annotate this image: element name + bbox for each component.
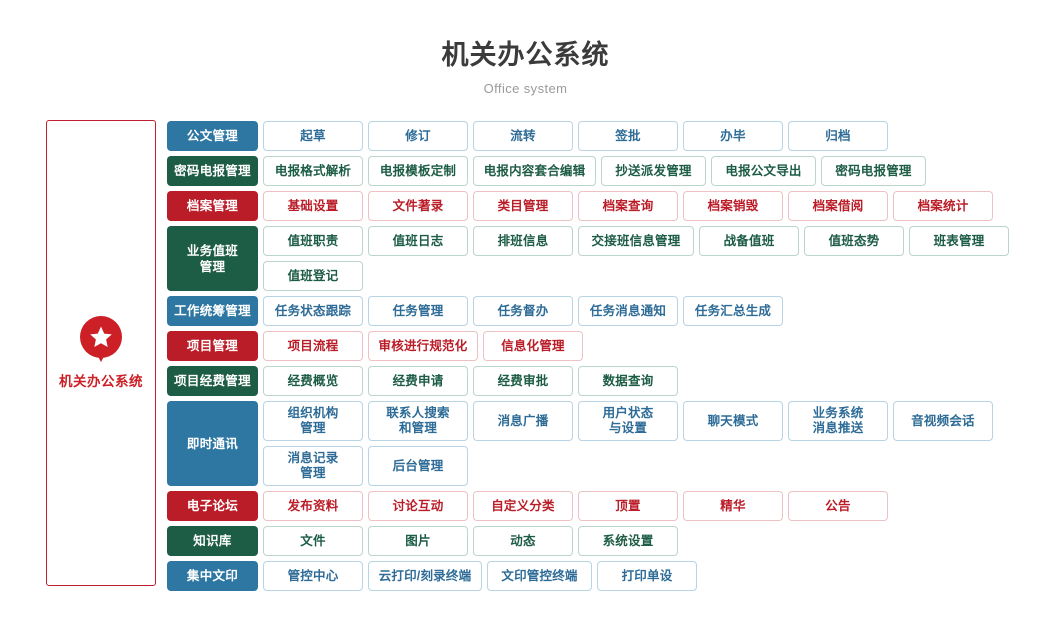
menu-item[interactable]: 发布资料 — [263, 491, 363, 521]
menu-items-line: 值班职责值班日志排班信息交接班信息管理战备值班值班态势班表管理 — [263, 226, 1009, 256]
menu-item[interactable]: 消息广播 — [473, 401, 573, 441]
category-badge[interactable]: 档案管理 — [167, 191, 258, 221]
menu-item[interactable]: 交接班信息管理 — [578, 226, 694, 256]
menu-item[interactable]: 值班态势 — [804, 226, 904, 256]
menu-item[interactable]: 电报格式解析 — [263, 156, 363, 186]
menu-items-line: 管控中心云打印/刻录终端文印管控终端打印单设 — [263, 561, 1009, 591]
menu-item[interactable]: 值班职责 — [263, 226, 363, 256]
menu-items-wrap: 发布资料讨论互动自定义分类顶置精华公告 — [263, 491, 1009, 521]
menu-item[interactable]: 系统设置 — [578, 526, 678, 556]
menu-items-wrap: 文件图片动态系统设置 — [263, 526, 1009, 556]
category-badge[interactable]: 电子论坛 — [167, 491, 258, 521]
menu-item[interactable]: 动态 — [473, 526, 573, 556]
menu-item[interactable]: 打印单设 — [597, 561, 697, 591]
menu-item[interactable]: 办毕 — [683, 121, 783, 151]
category-badge[interactable]: 项目经费管理 — [167, 366, 258, 396]
menu-item[interactable]: 班表管理 — [909, 226, 1009, 256]
menu-item[interactable]: 用户状态 与设置 — [578, 401, 678, 441]
menu-item[interactable]: 经费概览 — [263, 366, 363, 396]
menu-item[interactable]: 档案统计 — [893, 191, 993, 221]
menu-item[interactable]: 精华 — [683, 491, 783, 521]
menu-item[interactable]: 任务消息通知 — [578, 296, 678, 326]
page-subtitle: Office system — [0, 81, 1051, 97]
menu-items-wrap: 值班职责值班日志排班信息交接班信息管理战备值班值班态势班表管理值班登记 — [263, 226, 1009, 291]
page-header: 机关办公系统 Office system — [0, 0, 1051, 97]
menu-item[interactable]: 档案销毁 — [683, 191, 783, 221]
menu-item[interactable]: 公告 — [788, 491, 888, 521]
menu-items-line: 基础设置文件著录类目管理档案查询档案销毁档案借阅档案统计 — [263, 191, 1009, 221]
menu-item[interactable]: 项目流程 — [263, 331, 363, 361]
brand-panel: 机关办公系统 — [46, 120, 156, 586]
menu-item[interactable]: 档案借阅 — [788, 191, 888, 221]
menu-row: 知识库文件图片动态系统设置 — [167, 526, 1009, 556]
menu-item[interactable]: 联系人搜索 和管理 — [368, 401, 468, 441]
menu-item[interactable]: 起草 — [263, 121, 363, 151]
menu-item[interactable]: 电报公文导出 — [711, 156, 816, 186]
menu-item[interactable]: 经费申请 — [368, 366, 468, 396]
menu-row: 电子论坛发布资料讨论互动自定义分类顶置精华公告 — [167, 491, 1009, 521]
menu-item[interactable]: 值班日志 — [368, 226, 468, 256]
star-icon — [89, 325, 113, 349]
menu-item[interactable]: 音视频会话 — [893, 401, 993, 441]
category-badge[interactable]: 项目管理 — [167, 331, 258, 361]
page-title: 机关办公系统 — [0, 38, 1051, 72]
category-badge[interactable]: 知识库 — [167, 526, 258, 556]
menu-item[interactable]: 基础设置 — [263, 191, 363, 221]
menu-grid: 公文管理起草修订流转签批办毕归档密码电报管理电报格式解析电报模板定制电报内容套合… — [167, 120, 1009, 591]
menu-item[interactable]: 密码电报管理 — [821, 156, 926, 186]
menu-item[interactable]: 业务系统 消息推送 — [788, 401, 888, 441]
menu-items-wrap: 组织机构 管理联系人搜索 和管理消息广播用户状态 与设置聊天模式业务系统 消息推… — [263, 401, 1009, 486]
menu-item[interactable]: 数据查询 — [578, 366, 678, 396]
page-content: 机关办公系统 公文管理起草修订流转签批办毕归档密码电报管理电报格式解析电报模板定… — [0, 120, 1051, 591]
menu-row: 档案管理基础设置文件著录类目管理档案查询档案销毁档案借阅档案统计 — [167, 191, 1009, 221]
category-badge[interactable]: 工作统筹管理 — [167, 296, 258, 326]
menu-items-wrap: 基础设置文件著录类目管理档案查询档案销毁档案借阅档案统计 — [263, 191, 1009, 221]
menu-item[interactable]: 信息化管理 — [483, 331, 583, 361]
menu-row: 即时通讯组织机构 管理联系人搜索 和管理消息广播用户状态 与设置聊天模式业务系统… — [167, 401, 1009, 486]
menu-item[interactable]: 任务督办 — [473, 296, 573, 326]
menu-items-wrap: 起草修订流转签批办毕归档 — [263, 121, 1009, 151]
menu-item[interactable]: 管控中心 — [263, 561, 363, 591]
menu-item[interactable]: 顶置 — [578, 491, 678, 521]
menu-item[interactable]: 云打印/刻录终端 — [368, 561, 482, 591]
menu-items-line: 起草修订流转签批办毕归档 — [263, 121, 1009, 151]
menu-items-line: 消息记录 管理后台管理 — [263, 446, 1009, 486]
menu-item[interactable]: 档案查询 — [578, 191, 678, 221]
brand-label: 机关办公系统 — [59, 370, 143, 390]
menu-item[interactable]: 文件 — [263, 526, 363, 556]
menu-item[interactable]: 归档 — [788, 121, 888, 151]
menu-row: 工作统筹管理任务状态跟踪任务管理任务督办任务消息通知任务汇总生成 — [167, 296, 1009, 326]
menu-row: 业务值班 管理值班职责值班日志排班信息交接班信息管理战备值班值班态势班表管理值班… — [167, 226, 1009, 291]
menu-item[interactable]: 任务管理 — [368, 296, 468, 326]
menu-item[interactable]: 消息记录 管理 — [263, 446, 363, 486]
menu-items-line: 发布资料讨论互动自定义分类顶置精华公告 — [263, 491, 1009, 521]
menu-items-line: 组织机构 管理联系人搜索 和管理消息广播用户状态 与设置聊天模式业务系统 消息推… — [263, 401, 1009, 441]
menu-item[interactable]: 电报模板定制 — [368, 156, 468, 186]
menu-items-wrap: 任务状态跟踪任务管理任务督办任务消息通知任务汇总生成 — [263, 296, 1009, 326]
menu-item[interactable]: 文件著录 — [368, 191, 468, 221]
menu-items-line: 任务状态跟踪任务管理任务督办任务消息通知任务汇总生成 — [263, 296, 1009, 326]
menu-item[interactable]: 聊天模式 — [683, 401, 783, 441]
menu-row: 集中文印管控中心云打印/刻录终端文印管控终端打印单设 — [167, 561, 1009, 591]
menu-item[interactable]: 排班信息 — [473, 226, 573, 256]
menu-row: 密码电报管理电报格式解析电报模板定制电报内容套合编辑抄送派发管理电报公文导出密码… — [167, 156, 1009, 186]
menu-item[interactable]: 任务状态跟踪 — [263, 296, 363, 326]
menu-row: 项目经费管理经费概览经费申请经费审批数据查询 — [167, 366, 1009, 396]
menu-item[interactable]: 值班登记 — [263, 261, 363, 291]
menu-item[interactable]: 图片 — [368, 526, 468, 556]
menu-item[interactable]: 电报内容套合编辑 — [473, 156, 596, 186]
menu-row: 公文管理起草修订流转签批办毕归档 — [167, 121, 1009, 151]
menu-item[interactable]: 讨论互动 — [368, 491, 468, 521]
category-badge[interactable]: 密码电报管理 — [167, 156, 258, 186]
menu-items-line: 项目流程审核进行规范化信息化管理 — [263, 331, 1009, 361]
menu-item[interactable]: 任务汇总生成 — [683, 296, 783, 326]
menu-item[interactable]: 签批 — [578, 121, 678, 151]
menu-items-line: 值班登记 — [263, 261, 1009, 291]
menu-items-wrap: 管控中心云打印/刻录终端文印管控终端打印单设 — [263, 561, 1009, 591]
menu-items-line: 经费概览经费申请经费审批数据查询 — [263, 366, 1009, 396]
category-badge[interactable]: 业务值班 管理 — [167, 226, 258, 291]
menu-row: 项目管理项目流程审核进行规范化信息化管理 — [167, 331, 1009, 361]
menu-item[interactable]: 战备值班 — [699, 226, 799, 256]
menu-item[interactable]: 文印管控终端 — [487, 561, 592, 591]
menu-items-wrap: 项目流程审核进行规范化信息化管理 — [263, 331, 1009, 361]
menu-item[interactable]: 类目管理 — [473, 191, 573, 221]
menu-item[interactable]: 流转 — [473, 121, 573, 151]
menu-item[interactable]: 后台管理 — [368, 446, 468, 486]
star-pin-icon — [80, 316, 122, 364]
menu-item[interactable]: 组织机构 管理 — [263, 401, 363, 441]
menu-items-wrap: 经费概览经费申请经费审批数据查询 — [263, 366, 1009, 396]
category-badge[interactable]: 即时通讯 — [167, 401, 258, 486]
menu-item[interactable]: 修订 — [368, 121, 468, 151]
menu-item[interactable]: 自定义分类 — [473, 491, 573, 521]
menu-item[interactable]: 经费审批 — [473, 366, 573, 396]
menu-item[interactable]: 抄送派发管理 — [601, 156, 706, 186]
menu-items-line: 文件图片动态系统设置 — [263, 526, 1009, 556]
category-badge[interactable]: 集中文印 — [167, 561, 258, 591]
menu-item[interactable]: 审核进行规范化 — [368, 331, 478, 361]
category-badge[interactable]: 公文管理 — [167, 121, 258, 151]
menu-items-wrap: 电报格式解析电报模板定制电报内容套合编辑抄送派发管理电报公文导出密码电报管理 — [263, 156, 1009, 186]
menu-items-line: 电报格式解析电报模板定制电报内容套合编辑抄送派发管理电报公文导出密码电报管理 — [263, 156, 1009, 186]
